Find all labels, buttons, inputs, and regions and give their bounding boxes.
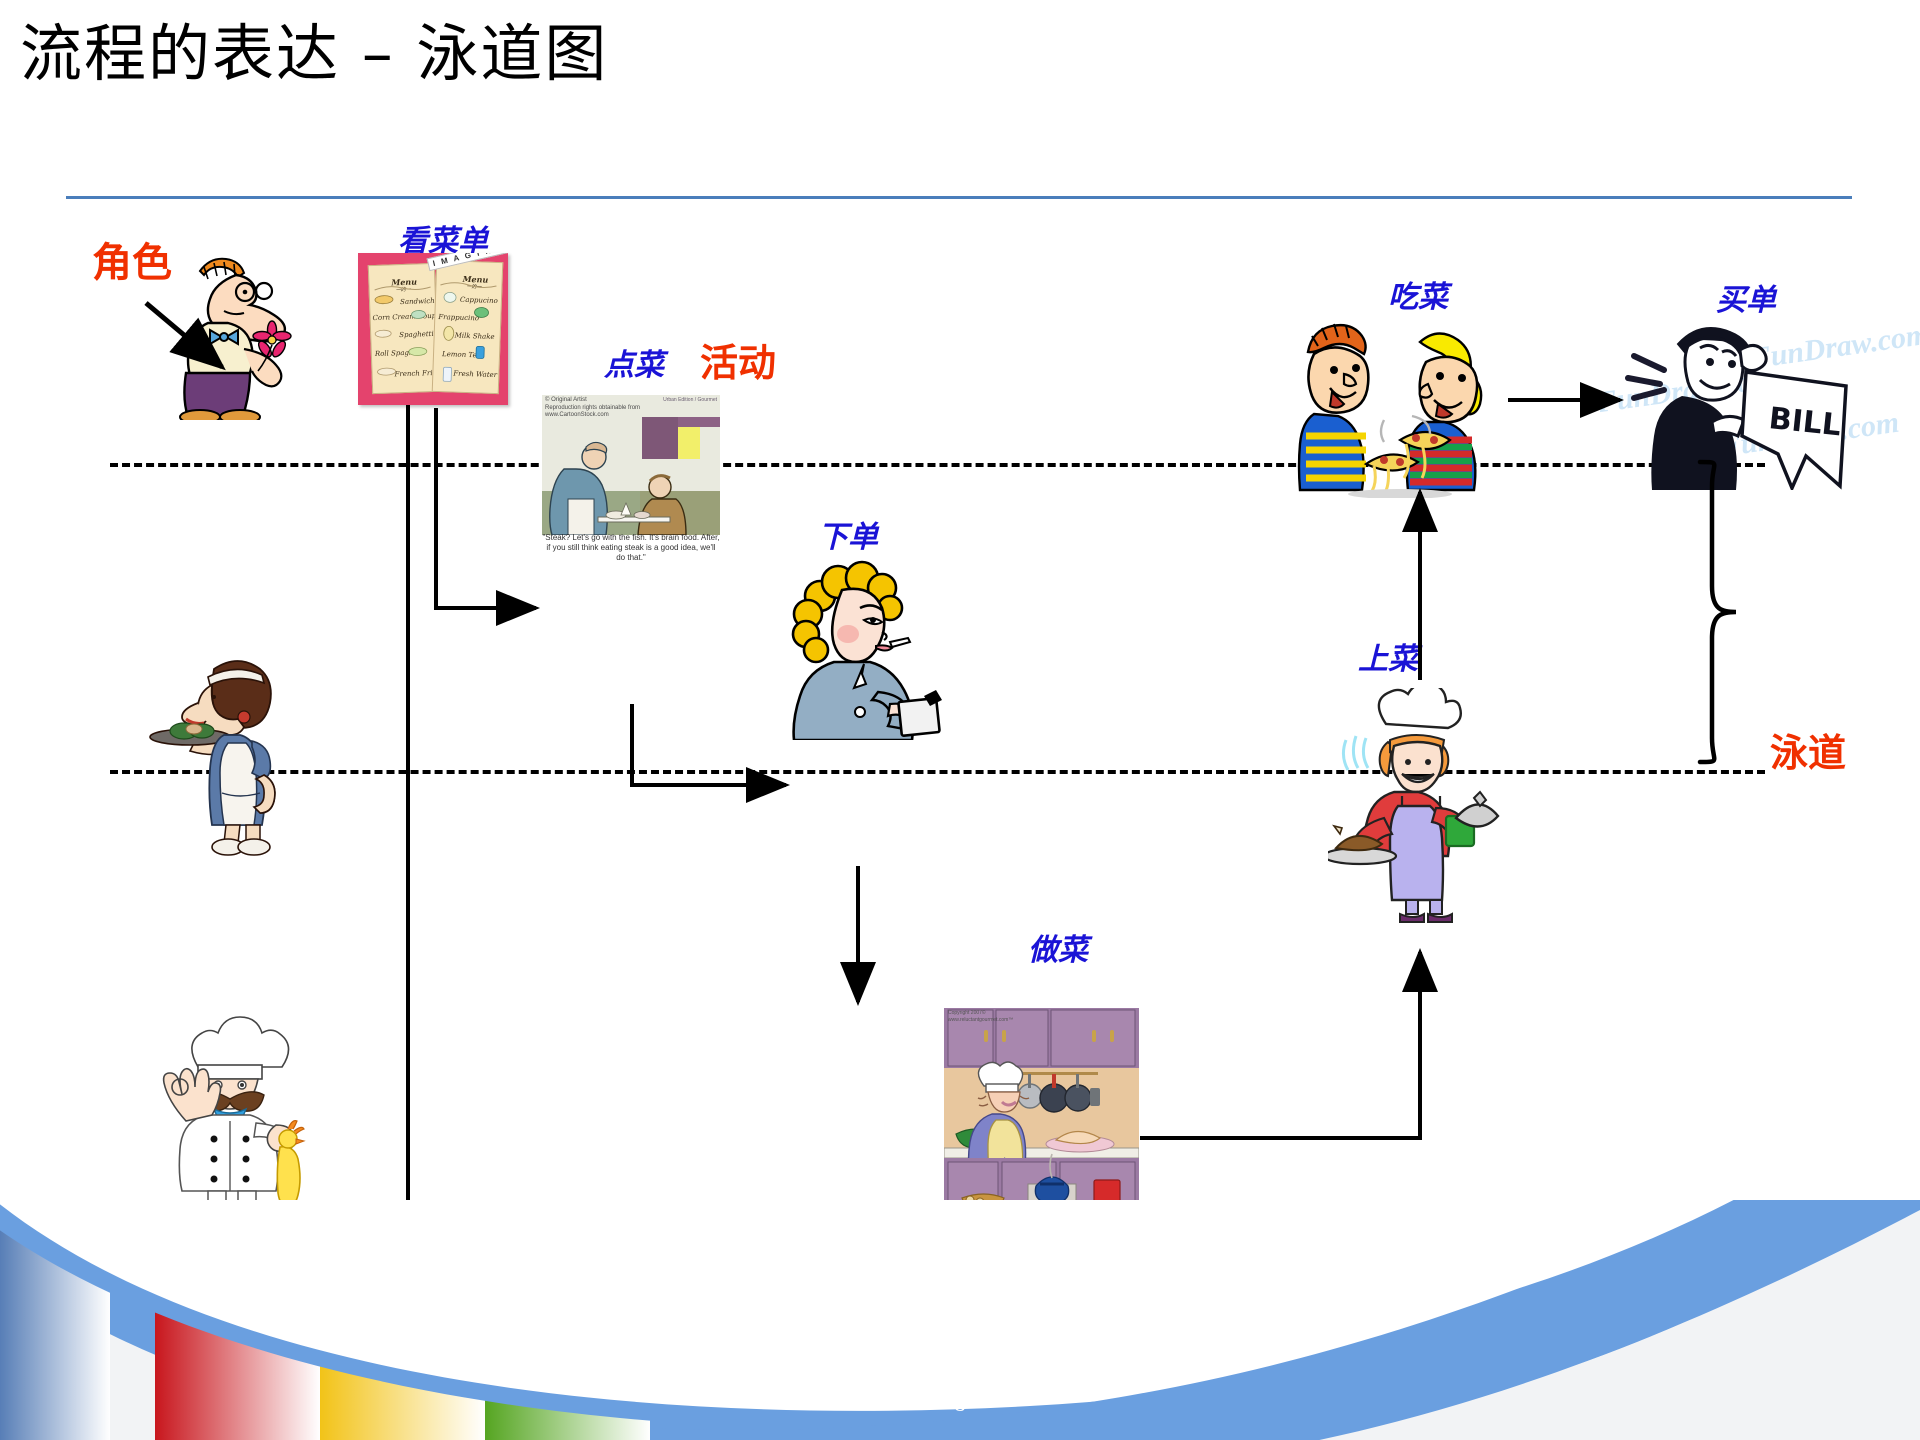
menu-page-right: Menu 一的一 Cappucino Frappucino Milk Shake… [432, 260, 504, 394]
clipart-waitress [140, 645, 320, 860]
activity-label-cook-food: 做菜 [1028, 925, 1088, 969]
clipart-kids-eating-pizza [1288, 308, 1506, 498]
activity-label-serve-food: 上菜 [1358, 634, 1418, 678]
annotation-activity: 活动 [700, 332, 776, 387]
lane-divider-2 [110, 770, 1765, 774]
page-number: 8 [0, 1391, 1920, 1418]
page-title: 流程的表达 – 泳道图 [20, 18, 608, 89]
title-divider [66, 196, 1852, 199]
kitchen-credit: Copyright 2007© www.reluctantgourmet.com… [948, 1010, 1013, 1023]
lane-divider-1 [110, 463, 1765, 467]
scene-credit: © Original Artist Reproduction rights ob… [545, 397, 640, 420]
annotation-swimlane: 泳道 [1770, 722, 1846, 777]
scene-caption: "Steak? Let's go with the fish. It's bra… [542, 533, 720, 563]
clipart-waitress-taking-order [772, 550, 952, 740]
menu-page-left: Menu 一的一 Sandwich Corn Cream Soup Spaghe… [368, 263, 439, 394]
slide-footer-decoration: 8 [0, 1200, 1920, 1440]
picture-menu-card: Menu 一的一 Sandwich Corn Cream Soup Spaghe… [358, 253, 508, 405]
activity-label-order-food: 点菜 [604, 340, 664, 384]
picture-kitchen-scene: Copyright 2007© www.reluctantgourmet.com… [944, 1008, 1139, 1218]
clipart-chef-serving [1328, 688, 1508, 923]
picture-bill-scene: FunDraw.com FunDraw.com FunDraw.com BILL [1600, 300, 1920, 490]
picture-restaurant-scene: © Original Artist Reproduction rights ob… [542, 395, 720, 565]
slide-canvas: 流程的表达 – 泳道图 角色 [0, 0, 1920, 1440]
clipart-customer-man [104, 245, 304, 420]
swimlane-actor-separator [406, 272, 410, 1212]
scene-credit-right: Urban Edition / Gourmet [663, 397, 717, 403]
